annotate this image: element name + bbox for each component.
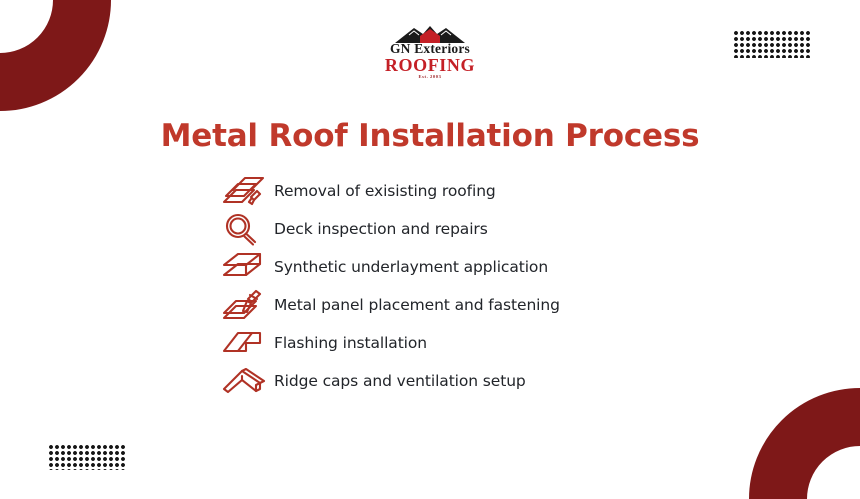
list-item: Synthetic underlayment application: [222, 248, 742, 286]
list-item-label: Synthetic underlayment application: [274, 258, 548, 276]
process-step-list: Removal of exisisting roofing Deck inspe…: [222, 172, 742, 400]
stacked-sheets-icon: [222, 248, 274, 286]
panel-screw-icon: [222, 286, 274, 324]
list-item: Ridge caps and ventilation setup: [222, 362, 742, 400]
list-item: Flashing installation: [222, 324, 742, 362]
list-item-label: Deck inspection and repairs: [274, 220, 488, 238]
magnifying-glass-icon: [222, 210, 274, 248]
infographic-canvas: GN Exteriors ROOFING Est. 2003 Metal Roo…: [0, 0, 860, 499]
list-item: Metal panel placement and fastening: [222, 286, 742, 324]
list-item-label: Metal panel placement and fastening: [274, 296, 560, 314]
list-item-label: Ridge caps and ventilation setup: [274, 372, 526, 390]
shingle-removal-icon: [222, 172, 274, 210]
bent-flashing-icon: [222, 324, 274, 362]
ridge-cap-icon: [222, 362, 274, 400]
logo-text-exteriors: GN Exteriors: [390, 42, 470, 56]
logo-text-roofing: ROOFING: [385, 56, 475, 75]
list-item-label: Removal of exisisting roofing: [274, 182, 496, 200]
list-item: Deck inspection and repairs: [222, 210, 742, 248]
logo-text-established: Est. 2003: [419, 75, 442, 80]
list-item: Removal of exisisting roofing: [222, 172, 742, 210]
list-item-label: Flashing installation: [274, 334, 427, 352]
brand-logo: GN Exteriors ROOFING Est. 2003: [0, 22, 860, 80]
quarter-ring-bottom-right: [749, 388, 860, 499]
page-title: Metal Roof Installation Process: [0, 118, 860, 154]
dot-grid-bottom-left: [48, 444, 127, 470]
